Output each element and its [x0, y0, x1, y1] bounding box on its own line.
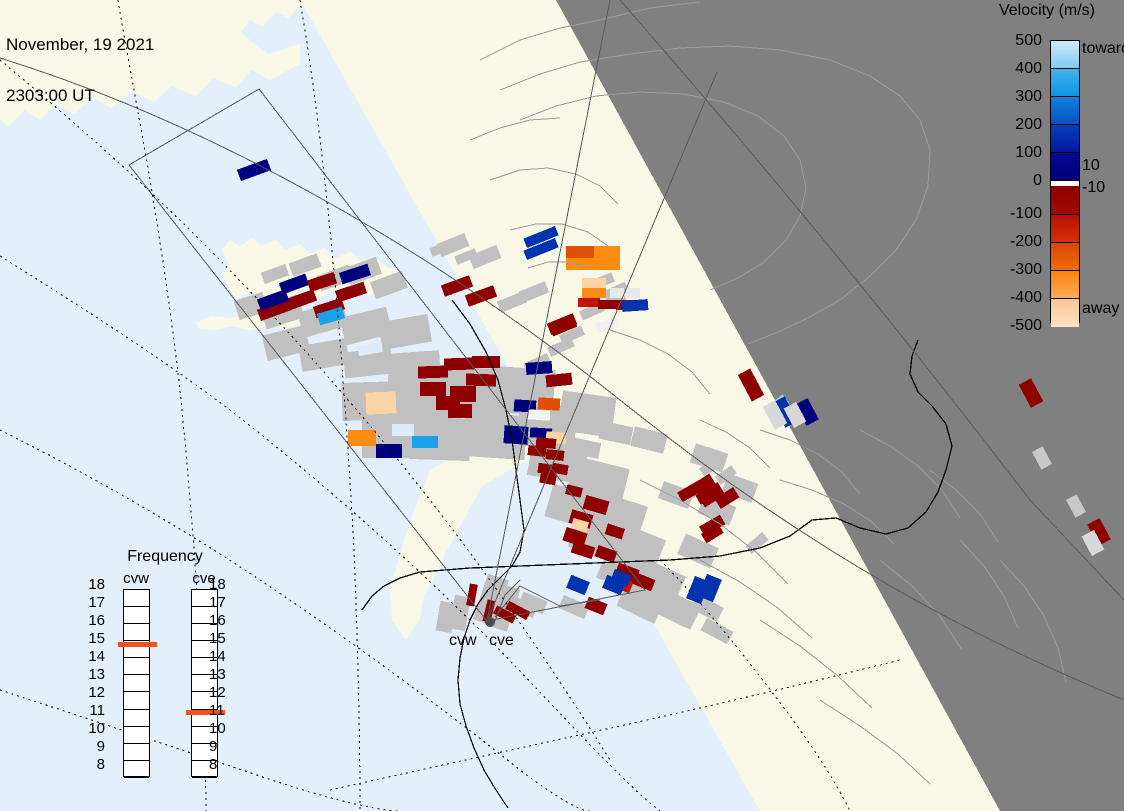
timestamp-date: November, 19 2021 — [6, 36, 154, 53]
freq-cell — [124, 675, 149, 692]
colorbar-segment-toward-500 — [1051, 41, 1079, 69]
freq-tick-8: 8 — [209, 756, 217, 773]
colorbar-segment-away-400 — [1051, 271, 1079, 299]
frequency-column-cvw-label: cvw — [121, 570, 151, 587]
freq-tick-9: 9 — [209, 738, 217, 755]
colorbar-segment-away-300 — [1051, 243, 1079, 271]
freq-tick-18: 18 — [88, 576, 105, 593]
superdarn-velocity-map-screenshot: November, 19 2021 2303:00 UT Velocity (m… — [0, 0, 1124, 811]
freq-tick-15: 15 — [209, 630, 226, 647]
frequency-marker-cvw — [118, 642, 157, 647]
freq-tick-9: 9 — [97, 738, 105, 755]
colorbar-tick--200: -200 — [1010, 233, 1042, 251]
colorbar-tick--100: -100 — [1010, 205, 1042, 223]
frequency-legend: Frequency cvw 18 17 16 15 — [85, 548, 245, 788]
freq-cell — [124, 761, 149, 778]
colorbar-toward-label: toward — [1082, 40, 1124, 58]
colorbar-tick-300: 300 — [1015, 88, 1042, 106]
freq-tick-16: 16 — [88, 612, 105, 629]
colorbar-segment-away-200 — [1051, 215, 1079, 243]
timestamp-time: 2303:00 UT — [6, 87, 154, 104]
freq-cell — [124, 590, 149, 607]
colorbar-tick-400: 400 — [1015, 60, 1042, 78]
velocity-legend-title: Velocity (m/s) — [970, 2, 1124, 20]
freq-cell — [124, 744, 149, 761]
freq-cell — [124, 624, 149, 641]
freq-cell — [124, 692, 149, 709]
freq-cell — [124, 658, 149, 675]
freq-tick-18: 18 — [209, 576, 226, 593]
colorbar-segment-toward-400 — [1051, 69, 1079, 97]
colorbar-tick--300: -300 — [1010, 261, 1042, 279]
freq-tick-11: 11 — [89, 702, 105, 719]
freq-tick-12: 12 — [209, 684, 226, 701]
colorbar-inner-lower-label: -10 — [1082, 179, 1105, 197]
colorbar-tick-100: 100 — [1015, 144, 1042, 162]
freq-tick-16: 16 — [209, 612, 226, 629]
velocity-colorbar — [1050, 40, 1080, 323]
timestamp-overlay: November, 19 2021 2303:00 UT — [6, 2, 154, 138]
frequency-legend-title: Frequency — [85, 548, 245, 566]
site-label-cve: cve — [489, 632, 514, 650]
freq-tick-13: 13 — [209, 666, 226, 683]
colorbar-segment-away-100 — [1051, 186, 1079, 214]
colorbar-segment-toward-300 — [1051, 97, 1079, 125]
freq-cell — [124, 607, 149, 624]
colorbar-tick-500: 500 — [1015, 32, 1042, 50]
freq-tick-12: 12 — [88, 684, 105, 701]
freq-cell — [124, 727, 149, 744]
freq-tick-8: 8 — [97, 756, 105, 773]
freq-tick-13: 13 — [88, 666, 105, 683]
freq-tick-10: 10 — [209, 720, 226, 737]
frequency-bar-cvw — [123, 589, 150, 777]
colorbar-segment-toward-100 — [1051, 153, 1079, 181]
freq-tick-10: 10 — [88, 720, 105, 737]
colorbar-tick--400: -400 — [1010, 289, 1042, 307]
colorbar-tick--500: -500 — [1010, 317, 1042, 335]
freq-tick-14: 14 — [88, 648, 105, 665]
colorbar-segment-toward-200 — [1051, 125, 1079, 153]
freq-tick-17: 17 — [209, 594, 226, 611]
velocity-legend: Velocity (m/s) 500 400 300 200 100 0 -10… — [970, 0, 1124, 340]
freq-tick-15: 15 — [88, 630, 105, 647]
frequency-column-cvw: cvw — [106, 570, 166, 777]
freq-tick-11: 11 — [209, 702, 225, 719]
radar-site-dot — [485, 617, 495, 627]
freq-tick-17: 17 — [88, 594, 105, 611]
freq-tick-14: 14 — [209, 648, 226, 665]
colorbar-segment-away-500 — [1051, 299, 1079, 327]
colorbar-away-label: away — [1082, 300, 1119, 318]
freq-cell — [124, 710, 149, 727]
colorbar-inner-upper-label: 10 — [1082, 157, 1100, 175]
colorbar-tick-0: 0 — [1033, 172, 1042, 190]
site-label-cvw: cvw — [449, 632, 477, 650]
colorbar-tick-200: 200 — [1015, 116, 1042, 134]
